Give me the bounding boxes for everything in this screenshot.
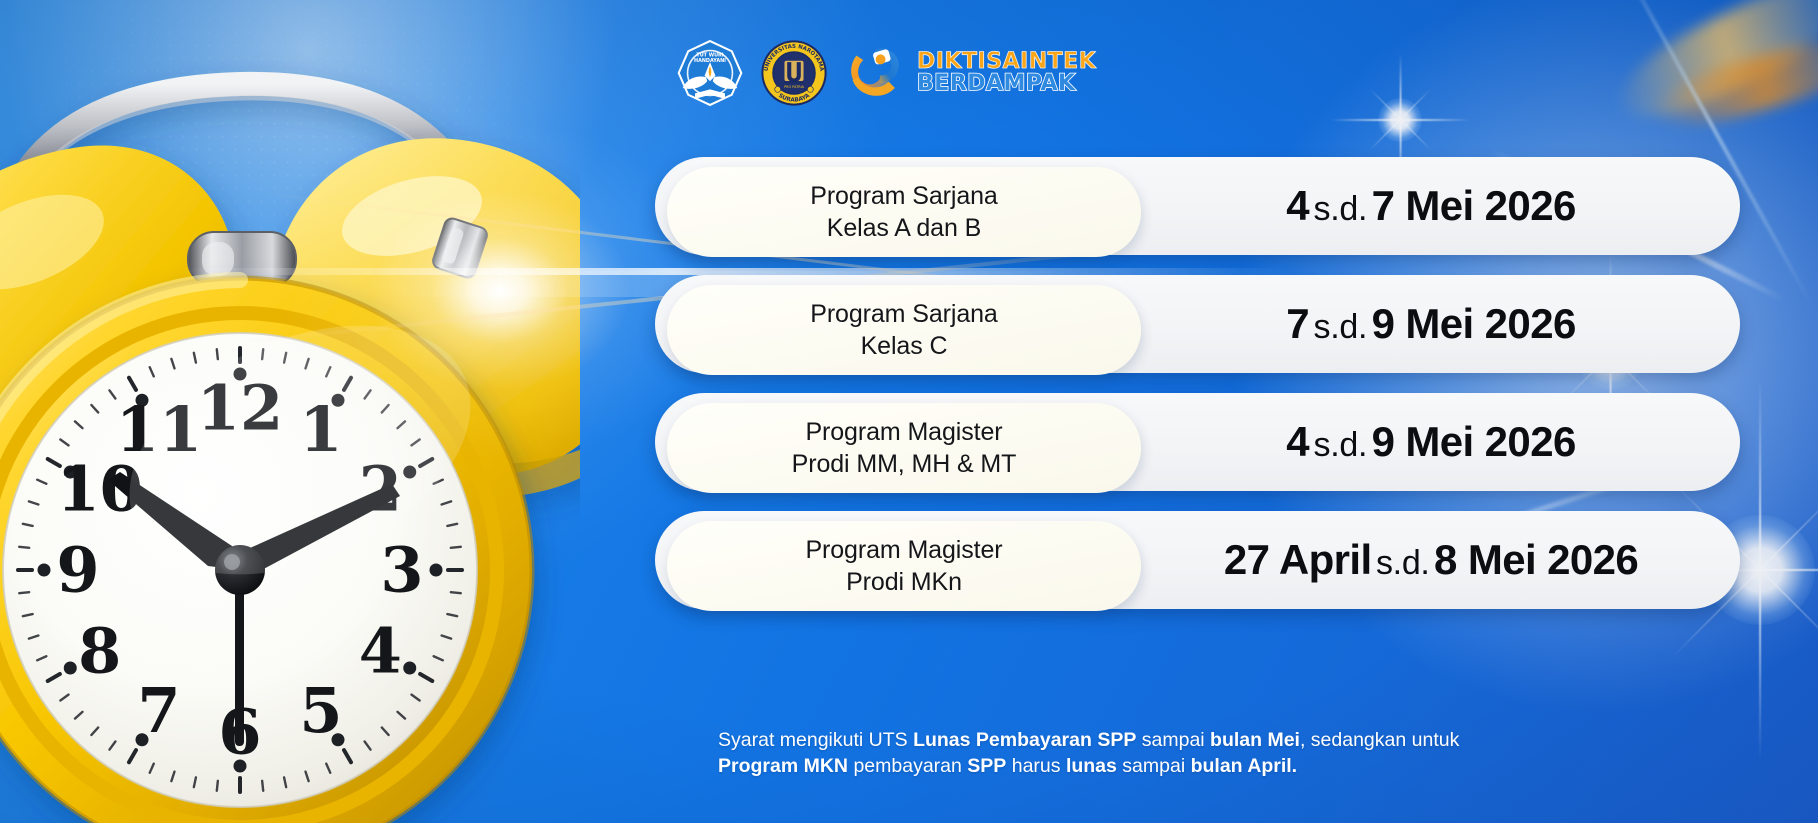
date-start: 4: [1286, 418, 1309, 465]
promo-banner: 121234567891011: [0, 0, 1818, 823]
schedule-date: 4 s.d. 7 Mei 2026: [1141, 182, 1721, 230]
date-start: 7: [1286, 300, 1309, 347]
note-emphasis: Program MKN: [718, 755, 848, 777]
program-pill: Program Sarjana Kelas C: [667, 285, 1141, 375]
schedule-date: 4 s.d. 9 Mei 2026: [1141, 418, 1721, 466]
note-emphasis: Lunas Pembayaran SPP: [913, 729, 1136, 751]
date-start: 27 April: [1224, 536, 1372, 583]
schedule-card-list: Program Sarjana Kelas A dan B 4 s.d. 7 M…: [655, 157, 1740, 629]
logo-row: TUT WURI HANDAYANI UNIVERSITAS NAROTAMA …: [676, 34, 1096, 112]
schedule-card[interactable]: Program Magister Prodi MM, MH & MT 4 s.d…: [655, 393, 1740, 491]
svg-text:PRO PATRIA: PRO PATRIA: [784, 85, 804, 89]
date-start: 4: [1286, 182, 1309, 229]
program-name-line1: Program Sarjana: [810, 298, 997, 330]
note-emphasis: SPP: [967, 755, 1006, 777]
note-emphasis: bulan Mei: [1210, 729, 1300, 751]
svg-text:5: 5: [299, 674, 342, 747]
schedule-card[interactable]: Program Sarjana Kelas C 7 s.d. 9 Mei 202…: [655, 275, 1740, 373]
date-separator: s.d.: [1314, 190, 1368, 228]
program-pill: Program Magister Prodi MM, MH & MT: [667, 403, 1141, 493]
date-end: 9 Mei 2026: [1372, 300, 1576, 347]
note-part: , sedangkan untuk: [1300, 729, 1459, 751]
schedule-card[interactable]: Program Sarjana Kelas A dan B 4 s.d. 7 M…: [655, 157, 1740, 255]
schedule-date: 7 s.d. 9 Mei 2026: [1141, 300, 1721, 348]
svg-text:9: 9: [56, 534, 99, 607]
tut-wuri-handayani-logo-icon: TUT WURI HANDAYANI: [676, 39, 744, 107]
date-end: 7 Mei 2026: [1372, 182, 1576, 229]
diktisaintek-figure-icon: [844, 42, 906, 104]
program-name-line2: Prodi MM, MH & MT: [792, 448, 1017, 480]
yellow-alarm-clock-illustration: 121234567891011: [0, 0, 580, 823]
schedule-date: 27 April s.d. 8 Mei 2026: [1141, 536, 1721, 584]
note-part: harus: [1006, 755, 1066, 777]
date-separator: s.d.: [1314, 308, 1368, 346]
payment-requirement-note: Syarat mengikuti UTS Lunas Pembayaran SP…: [718, 728, 1528, 780]
program-name-line2: Prodi MKn: [846, 566, 962, 598]
svg-text:8: 8: [78, 615, 121, 688]
note-emphasis: bulan April.: [1191, 755, 1298, 777]
svg-text:3: 3: [380, 534, 423, 607]
program-pill: Program Magister Prodi MKn: [667, 521, 1141, 611]
program-name-line2: Kelas C: [861, 330, 948, 362]
program-name-line1: Program Magister: [805, 416, 1002, 448]
svg-text:4: 4: [359, 615, 402, 688]
diktisaintek-wordmark-line2: BERDAMPAK: [917, 73, 1096, 95]
schedule-card[interactable]: Program Magister Prodi MKn 27 April s.d.…: [655, 511, 1740, 609]
note-emphasis: lunas: [1066, 755, 1117, 777]
date-separator: s.d.: [1376, 544, 1430, 582]
universitas-narotama-logo-icon: UNIVERSITAS NAROTAMA SURABAYA PRO PATRIA: [760, 39, 828, 107]
note-part: sampai: [1136, 729, 1210, 751]
diktisaintek-berdampak-logo: DIKTISAINTEK BERDAMPAK: [844, 42, 1096, 104]
program-name-line1: Program Sarjana: [810, 180, 997, 212]
program-name-line2: Kelas A dan B: [827, 212, 981, 244]
note-part: sampai: [1117, 755, 1191, 777]
diktisaintek-wordmark-line1: DIKTISAINTEK: [917, 51, 1096, 73]
svg-text:7: 7: [137, 674, 180, 747]
date-end: 8 Mei 2026: [1434, 536, 1638, 583]
date-separator: s.d.: [1314, 426, 1368, 464]
program-pill: Program Sarjana Kelas A dan B: [667, 167, 1141, 257]
note-part: pembayaran: [848, 755, 967, 777]
date-end: 9 Mei 2026: [1372, 418, 1576, 465]
note-part: Syarat mengikuti UTS: [718, 729, 913, 751]
program-name-line1: Program Magister: [805, 534, 1002, 566]
